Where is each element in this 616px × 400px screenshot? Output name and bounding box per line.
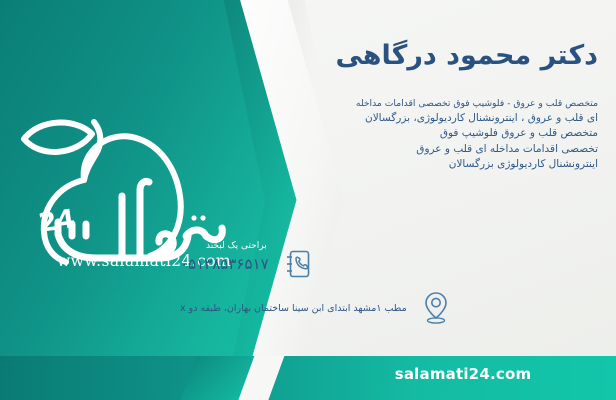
phone-number[interactable]: ۰۵۱۳۸۵۳۶۵۱۷ [180, 255, 269, 273]
specialty-line: متخصص قلب و عروق فلوشیپ فوق [198, 126, 598, 141]
svg-text:24: 24 [37, 204, 77, 239]
specialty-list: متخصص قلب و عروق - فلوشیپ فوق تخصصی اقدا… [198, 96, 598, 172]
phone-row[interactable]: ۰۵۱۳۸۵۳۶۵۱۷ [180, 246, 600, 282]
footer-site-url[interactable]: salamati24.com [0, 365, 616, 383]
address-row[interactable]: مطب ۱مشهد ابتدای ابن سینا ساختمان بهاران… [180, 290, 600, 326]
specialty-line: تخصصی اقدامات مداخله ای قلب و عروق [198, 142, 598, 157]
business-card: 24 براحتی یک لبخند www.salamati24.com دک… [0, 0, 616, 400]
doctor-name: دکتر محمود درگاهی [178, 40, 598, 71]
phone-book-icon [281, 246, 315, 282]
clinic-address: مطب ۱مشهد ابتدای ابن سینا ساختمان بهاران… [180, 302, 407, 315]
specialty-line: متخصص قلب و عروق - فلوشیپ فوق تخصصی اقدا… [198, 96, 598, 111]
map-pin-icon [419, 290, 453, 326]
logo-badge-24: 24 [37, 204, 77, 239]
footer-bar: salamati24.com [0, 356, 616, 400]
specialty-line: اینترونشنال کاردیولوژی بزرگسالان [198, 157, 598, 172]
specialty-line: ای قلب و عروق ، اینترونشنال کاردیولوژی، … [198, 111, 598, 126]
